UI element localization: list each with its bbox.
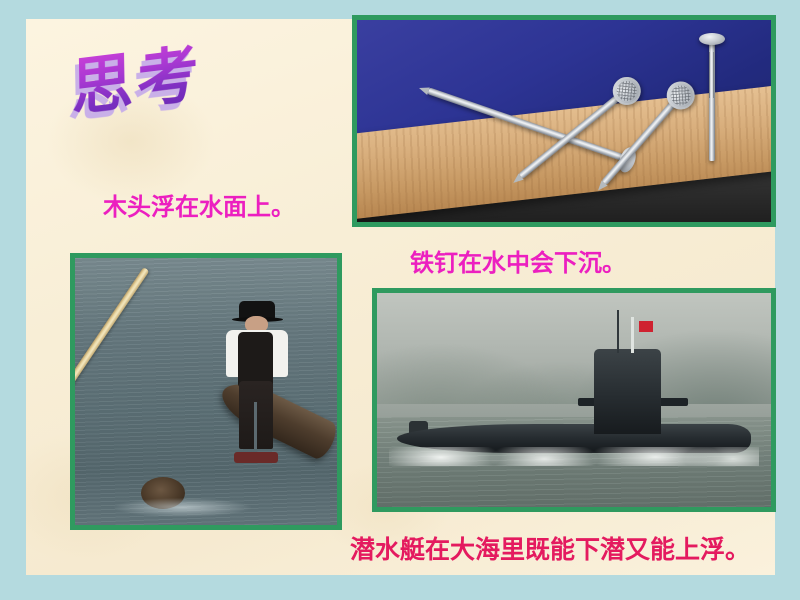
water-surface: [75, 258, 337, 525]
caption-wood-floats: 木头浮在水面上。: [103, 194, 295, 220]
page-title: 思考: [71, 42, 203, 120]
log-scene: [75, 258, 337, 525]
nail-upright: [709, 40, 715, 161]
shoes: [234, 452, 278, 463]
antenna-mast: [631, 317, 634, 353]
water-splash: [114, 498, 250, 517]
caption-nails-sink: 铁钉在水中会下沉。: [410, 250, 626, 276]
distant-hills: [377, 310, 771, 404]
photo-submarine[interactable]: [372, 288, 776, 512]
photo-steel-nails[interactable]: [352, 15, 776, 227]
nail-ridges: [709, 52, 715, 98]
photo-man-on-floating-log[interactable]: [70, 253, 342, 530]
bow-wake-foam: [389, 447, 759, 466]
conning-tower: [594, 349, 661, 435]
nails-scene: [357, 20, 771, 222]
submarine-scene: [377, 293, 771, 507]
periscope-mast: [617, 310, 619, 353]
man-figure: [222, 301, 290, 456]
caption-submarine-dive-surface: 潜水艇在大海里既能下潜又能上浮。: [350, 536, 750, 564]
trousers: [239, 381, 273, 449]
black-vest: [238, 332, 273, 388]
slide-canvas: 思考: [0, 0, 800, 600]
red-flag-icon: [639, 321, 653, 332]
